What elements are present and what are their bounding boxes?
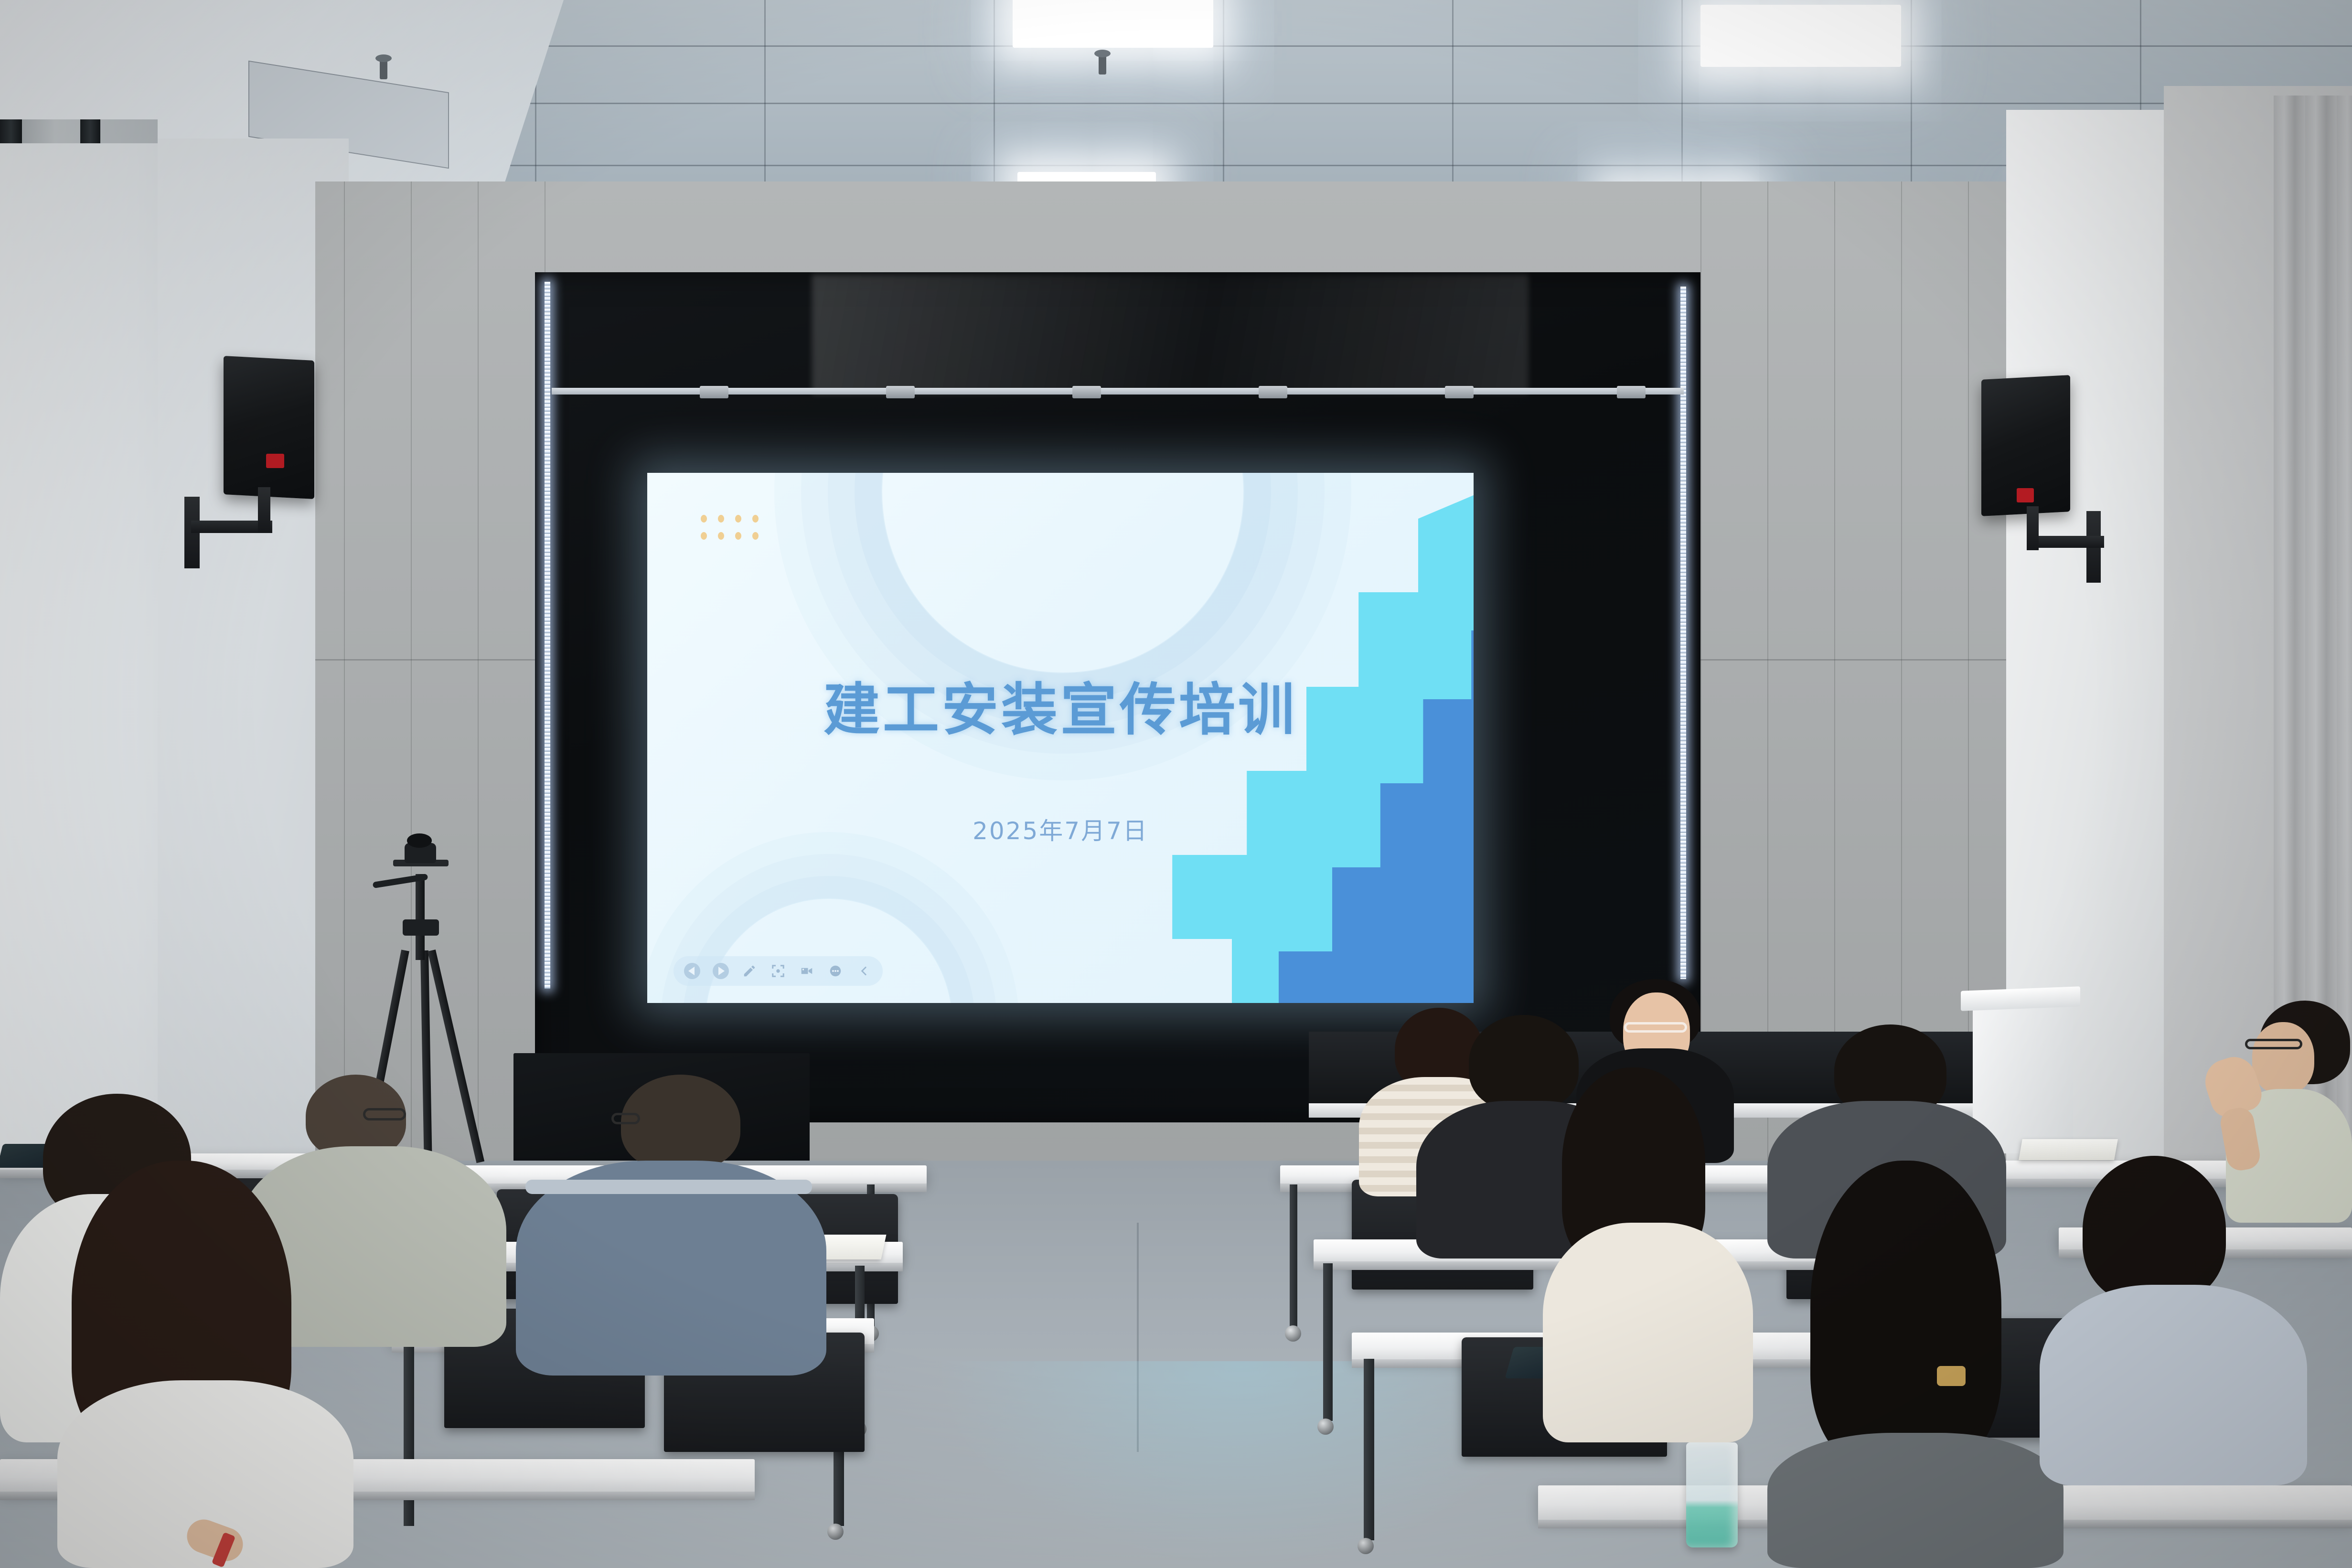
ceiling-light-panel xyxy=(1700,5,1901,67)
concentric-rings-decoration xyxy=(705,898,953,1003)
video-camera-icon[interactable] xyxy=(799,963,815,979)
dot-grid-decoration xyxy=(701,515,770,549)
slide-title: 建工安装宣传培训 xyxy=(647,664,1474,746)
presentation-slide[interactable]: 建工安装宣传培训 2025年7月7日 xyxy=(647,473,1474,1003)
floor-light-reflection xyxy=(931,1361,1552,1568)
chevron-left-icon[interactable] xyxy=(856,963,872,979)
glasses xyxy=(1624,1022,1687,1033)
ellipsis-circle-icon[interactable] xyxy=(827,963,844,979)
camera-lens xyxy=(407,833,432,848)
glasses xyxy=(363,1108,406,1120)
sprinkler-head xyxy=(1099,53,1106,75)
pencil-icon[interactable] xyxy=(741,963,758,979)
open-notebook[interactable] xyxy=(2019,1139,2118,1160)
concentric-rings-decoration xyxy=(881,473,1244,673)
tripod-collar xyxy=(403,919,439,936)
slide-toolbar[interactable] xyxy=(674,956,883,986)
glass-tumbler[interactable] xyxy=(1686,1442,1738,1547)
hair-clip xyxy=(1937,1366,1966,1386)
training-room-photo: 建工安装宣传培训 2025年7月7日 xyxy=(0,0,2352,1568)
led-strip-left xyxy=(545,282,550,989)
slide-date: 2025年7月7日 xyxy=(647,812,1474,846)
next-slide-button[interactable] xyxy=(713,963,729,979)
glasses xyxy=(2245,1039,2302,1049)
ceiling-light-panel xyxy=(1013,0,1213,48)
jbl-logo xyxy=(2017,488,2034,502)
jbl-logo xyxy=(266,454,284,468)
previous-slide-button[interactable] xyxy=(684,963,700,979)
display-glare xyxy=(812,275,1529,394)
focus-frame-icon[interactable] xyxy=(770,963,786,979)
polo-collar xyxy=(525,1180,812,1194)
display-rail xyxy=(552,388,1684,395)
glasses xyxy=(611,1113,640,1124)
sprinkler-head xyxy=(380,57,387,79)
